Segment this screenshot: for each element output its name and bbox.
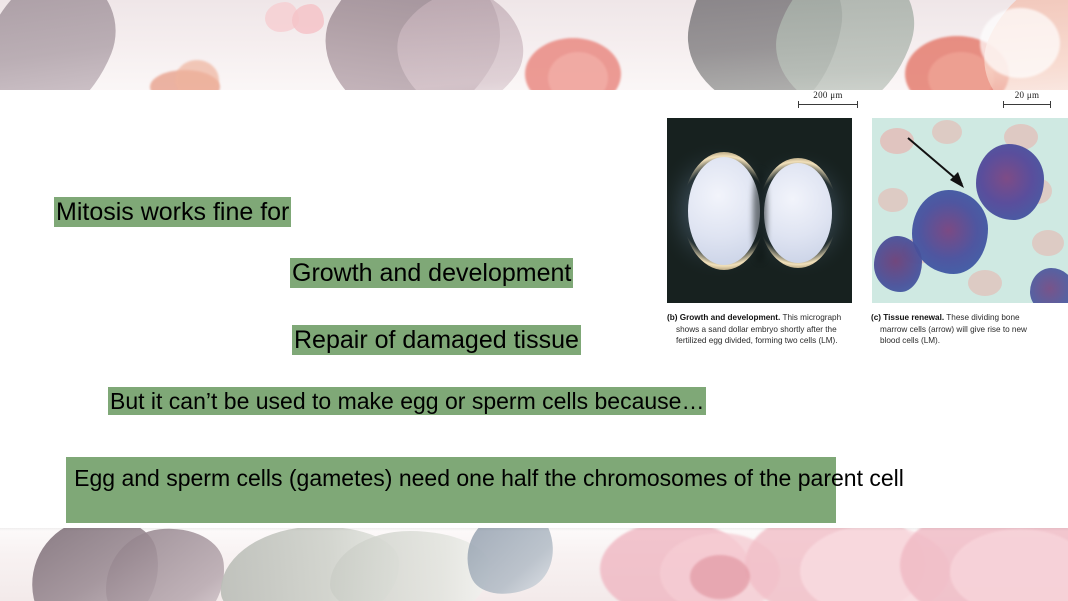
bone-marrow-cell (976, 144, 1044, 220)
floral-band-bottom (0, 525, 1068, 601)
bullet-line-4-text: But it can’t be used to make egg or sper… (108, 387, 706, 415)
bullet-line-4: But it can’t be used to make egg or sper… (108, 385, 706, 418)
caption-letter: (b) (667, 313, 677, 322)
caption-b: (b) Growth and development. This microgr… (667, 312, 861, 347)
bullet-line-5: Egg and sperm cells (gametes) need one h… (66, 457, 836, 495)
caption-c: (c) Tissue renewal. These dividing bone … (871, 312, 1065, 347)
caption-line: This micrograph (782, 313, 841, 322)
caption-letter: (c) (871, 313, 881, 322)
floral-band-top (0, 0, 1068, 92)
textbook-figure: 200 μm 20 μm (655, 90, 1068, 365)
bullet-line-3-text: Repair of damaged tissue (292, 325, 581, 355)
flower-shape (690, 555, 750, 599)
scale-bar-line (798, 101, 858, 108)
micrograph-tissue (872, 118, 1068, 303)
highlight-glow (980, 8, 1060, 78)
bone-marrow-cell (874, 236, 922, 292)
micrograph-embryo (667, 118, 852, 303)
feather-shape (0, 0, 134, 92)
pointer-arrow-icon (906, 136, 978, 198)
petal-shape (292, 4, 324, 34)
caption-title: Tissue renewal. (883, 313, 944, 322)
scale-bar-200um: 200 μm (798, 90, 858, 112)
slide-canvas: 200 μm 20 μm (0, 0, 1068, 601)
bullet-line-3: Repair of damaged tissue (292, 323, 581, 357)
embryo-cell (759, 158, 837, 268)
caption-line: shows a sand dollar embryo shortly after… (667, 324, 861, 336)
scale-bar-label: 20 μm (1003, 90, 1051, 100)
bone-marrow-cell (912, 190, 988, 274)
caption-line: blood cells (LM). (871, 335, 1065, 347)
bone-marrow-cell (1030, 268, 1068, 303)
bullet-line-2-text: Growth and development (290, 258, 573, 288)
caption-title: Growth and development. (680, 313, 781, 322)
bullet-line-1: Mitosis works fine for (54, 195, 291, 229)
scale-bar-line (1003, 101, 1051, 108)
bullet-line-5-text: Egg and sperm cells (gametes) need one h… (66, 457, 912, 495)
sheet-shadow (0, 528, 1068, 531)
bullet-line-1-text: Mitosis works fine for (54, 197, 291, 227)
caption-line: These dividing bone (946, 313, 1019, 322)
scale-bar-label: 200 μm (798, 90, 858, 100)
petal-shape (175, 60, 219, 92)
bullet-line-2: Growth and development (290, 256, 573, 290)
caption-line: marrow cells (arrow) will give rise to n… (871, 324, 1065, 336)
caption-line: fertilized egg divided, forming two cell… (667, 335, 861, 347)
figure-captions: (b) Growth and development. This microgr… (667, 312, 1065, 347)
scale-bar-20um: 20 μm (1003, 90, 1051, 112)
